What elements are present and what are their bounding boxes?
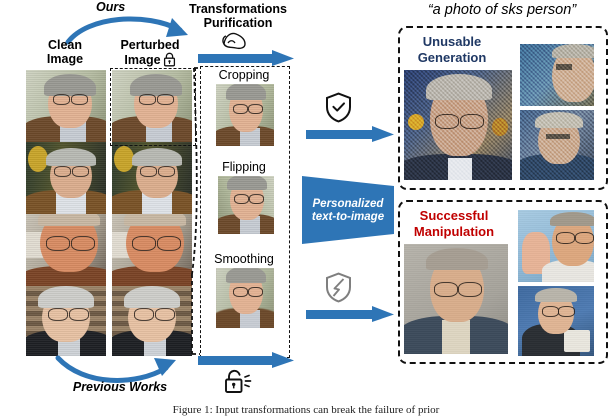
unusable-generation-title-line2: Generation (406, 50, 498, 66)
unusable-generation-title: Unusable Generation (406, 34, 498, 66)
unusable-generation-thumb-1 (520, 44, 594, 106)
clean-image-header-line2: Image (18, 52, 112, 66)
right-arrow-icon (306, 306, 394, 322)
banner-line2: text-to-image (302, 211, 394, 224)
successful-manipulation-title-line1: Successful (402, 208, 506, 224)
transformations-title-line1: Transformations (176, 2, 300, 16)
arrow-from-transforms (198, 352, 294, 368)
transform-label-smoothing: Smoothing (200, 252, 288, 266)
perturbed-image-header-line2: Image (124, 53, 160, 67)
arrow-successful-manipulation (306, 306, 394, 322)
previous-works-label: Previous Works (50, 380, 190, 394)
successful-manipulation-thumb-1 (518, 210, 594, 282)
photo-clean-3 (26, 214, 106, 286)
photo-clean-2 (26, 142, 106, 214)
successful-manipulation-title: Successful Manipulation (402, 208, 506, 240)
arrow-unusable-generation (306, 126, 394, 142)
clean-image-header-line1: Clean (18, 38, 112, 52)
unusable-generation-title-line1: Unusable (406, 34, 498, 50)
ours-label: Ours (96, 0, 125, 14)
right-arrow-icon (198, 352, 294, 368)
lock-closed-icon (163, 52, 176, 67)
photo-clean-4 (26, 286, 106, 356)
photo-clean-1 (26, 70, 106, 142)
figure-caption: Figure 1: Input transformations can brea… (0, 404, 612, 416)
arrow-to-transforms (198, 50, 294, 66)
photo-perturbed-4 (112, 286, 192, 356)
transformations-purification-title: Transformations Purification (176, 2, 300, 30)
right-arrow-icon (198, 50, 294, 66)
clean-image-header: Clean Image (18, 38, 112, 66)
photo-perturbed-2 (112, 142, 192, 214)
successful-manipulation-main-image (404, 244, 508, 354)
photo-perturbed-3 (112, 214, 192, 286)
transform-photo-cropping (216, 84, 274, 146)
lock-broken-icon (222, 368, 256, 396)
perturbed-highlight-box (110, 68, 196, 146)
shield-broken-icon (325, 272, 352, 303)
banner-line1: Personalized (302, 198, 394, 211)
shield-check-icon (325, 92, 352, 123)
transform-label-flipping: Flipping (202, 160, 286, 174)
perturbed-image-header: Perturbed Image (103, 38, 197, 67)
flexed-biceps-icon (222, 30, 248, 50)
transform-label-cropping: Cropping (202, 68, 286, 82)
unusable-generation-main-image (404, 70, 512, 180)
perturbed-image-header-line1: Perturbed (103, 38, 197, 52)
prompt-text: “a photo of sks person” (396, 2, 608, 18)
transform-photo-smoothing (216, 268, 274, 328)
successful-manipulation-thumb-2 (518, 286, 594, 356)
personalized-text-to-image-banner: Personalized text-to-image (302, 176, 394, 244)
right-arrow-icon (306, 126, 394, 142)
unusable-generation-thumb-2 (520, 110, 594, 180)
successful-manipulation-title-line2: Manipulation (402, 224, 506, 240)
transformations-title-line2: Purification (176, 16, 300, 30)
transform-photo-flipping (218, 176, 274, 234)
